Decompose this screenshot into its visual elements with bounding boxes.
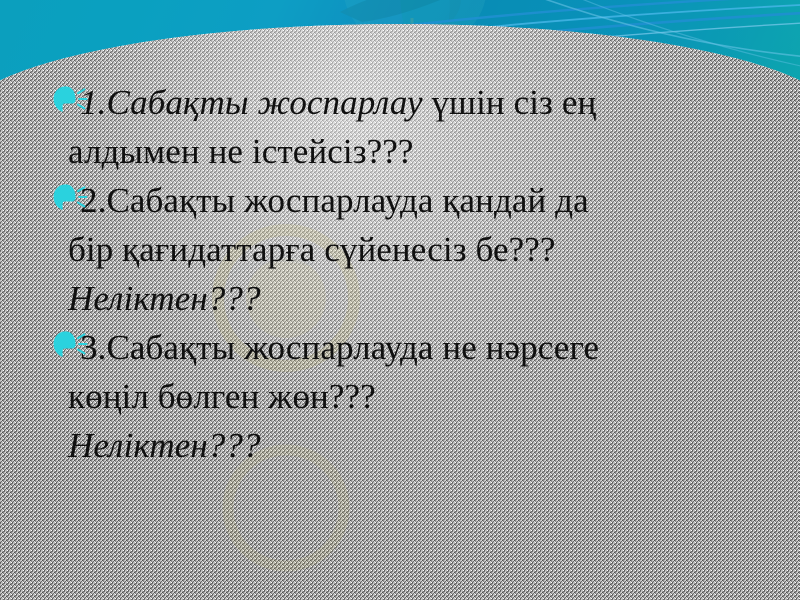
bullet-2-line-1-text: 2.Сабақты жоспарлауда қандай да — [80, 181, 589, 220]
bullet-item-1: 1.Сабақты жоспарлау үшін сіз ең алдымен … — [40, 78, 778, 176]
bullet-2-line-3-text: Неліктен??? — [68, 279, 261, 318]
speaking-head-icon — [52, 85, 88, 115]
bullet-item-2: 2.Сабақты жоспарлауда қандай да бір қағи… — [40, 176, 778, 323]
bullet-1-line-2-text: алдымен не істейсіз??? — [68, 132, 414, 171]
bullet-2-line-2-text: бір қағидаттарға сүйенесіз бе??? — [68, 230, 556, 269]
bullet-3-line-2-text: көңіл бөлген жөн??? — [68, 377, 376, 416]
bullet-1-line-1-upright: үшін сіз ең — [423, 83, 597, 122]
bullet-3-line-2: көңіл бөлген жөн??? — [40, 372, 778, 421]
bullet-3-line-1: 3.Сабақты жоспарлауда не нәрсеге — [40, 323, 778, 372]
bullet-1-line-2: алдымен не істейсіз??? — [40, 127, 778, 176]
presentation-slide: 1.Сабақты жоспарлау үшін сіз ең алдымен … — [0, 0, 800, 600]
bullet-2-line-2: бір қағидаттарға сүйенесіз бе??? — [40, 225, 778, 274]
bullet-1-line-1: 1.Сабақты жоспарлау үшін сіз ең — [40, 78, 778, 127]
bullet-3-line-3-text: Неліктен??? — [68, 426, 261, 465]
bullet-1-line-1-italic: 1.Сабақты жоспарлау — [80, 83, 423, 122]
slide-content: 1.Сабақты жоспарлау үшін сіз ең алдымен … — [0, 0, 800, 600]
speaking-head-icon — [52, 330, 88, 360]
bullet-2-line-1: 2.Сабақты жоспарлауда қандай да — [40, 176, 778, 225]
bullet-3-line-3: Неліктен??? — [40, 421, 778, 470]
speaking-head-icon — [52, 183, 88, 213]
bullet-item-3: 3.Сабақты жоспарлауда не нәрсеге көңіл б… — [40, 323, 778, 470]
bullet-3-line-1-text: 3.Сабақты жоспарлауда не нәрсеге — [80, 328, 599, 367]
bullet-2-line-3: Неліктен??? — [40, 274, 778, 323]
